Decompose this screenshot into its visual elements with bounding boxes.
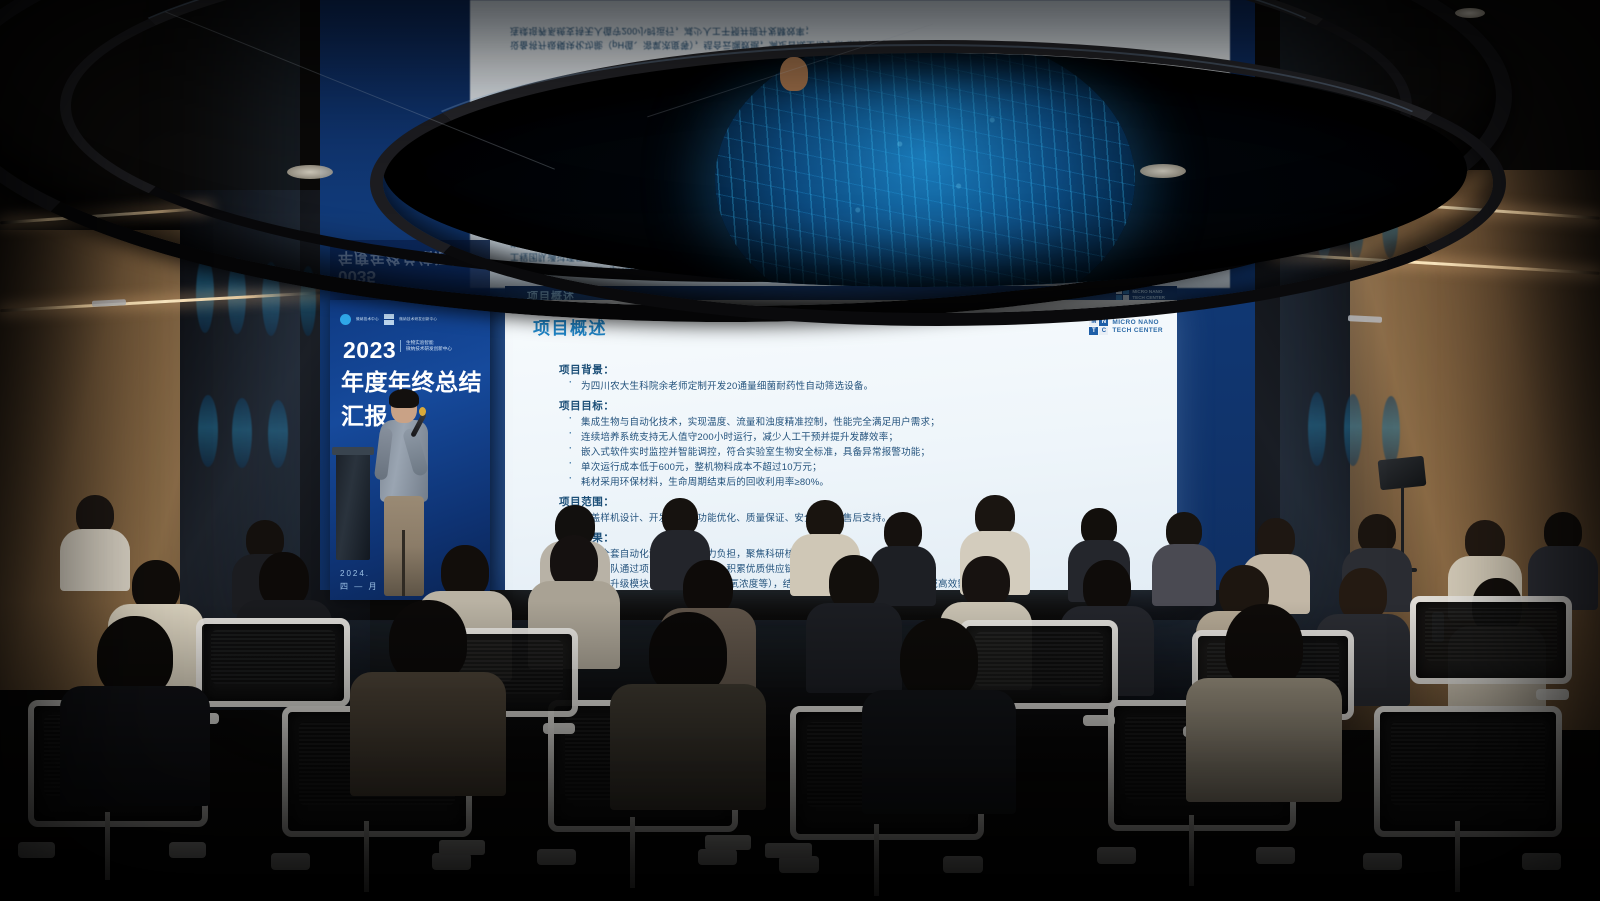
chair-post: [630, 817, 635, 888]
body: [350, 672, 506, 796]
chair-post: [874, 824, 879, 896]
section-heading-background: 项目背景：: [559, 362, 615, 377]
panel-oval-reflection: [268, 400, 288, 468]
chair-tablet-arm: [705, 835, 751, 850]
banner-subtitle-line2: 微纳技术研发创新中心: [406, 346, 452, 352]
panel-oval-reflection: [1382, 396, 1400, 466]
chair-tablet-arm: [765, 843, 812, 858]
head: [962, 556, 1010, 608]
logo-tile-c: C: [1099, 327, 1108, 335]
chair: [196, 618, 338, 738]
ceiling-downlight: [1140, 164, 1186, 178]
banner-year: 2023: [343, 337, 396, 364]
chair-back: [196, 618, 350, 707]
chair-post: [1455, 821, 1460, 892]
chair-tablet-arm: [439, 840, 485, 855]
audience-member: [350, 600, 506, 786]
banner-logo-grid-icon: [384, 314, 395, 325]
panel-oval-reflection: [1344, 394, 1362, 466]
banner-reflection-number: 0035: [338, 266, 376, 286]
bullet-goal-2: 连续培养系统支持无人值守200小时运行，减少人工干预并提升发酵效率；: [581, 429, 898, 443]
chair-arm-left: [1363, 853, 1402, 870]
logo-tiles: M N T C: [1089, 318, 1108, 335]
chair-arm-right: [1256, 847, 1295, 864]
presenter-leg-split: [402, 530, 405, 596]
chair-arm-right: [543, 723, 575, 734]
panel-oval-reflection: [262, 262, 280, 336]
audience-member: [1186, 604, 1342, 794]
logo-text-line2: TECH CENTER: [1112, 327, 1163, 335]
logo-text-line1: MICRO NANO: [1112, 319, 1163, 327]
chair-arm-left: [779, 856, 819, 873]
body: [1186, 678, 1342, 802]
header-logo-line1: MICRO NANO: [1132, 289, 1165, 294]
audience-member: [610, 612, 766, 800]
bullet-goal-1: 集成生物与自动化技术，实现温度、流量和浊度精准控制，性能完全满足用户需求；: [581, 414, 940, 428]
chair-mesh: [1391, 722, 1546, 805]
banner-logo-text: 微纳技术中心: [356, 317, 379, 321]
chair-arm-right: [698, 849, 737, 866]
logo-tile-n: N: [1099, 318, 1108, 326]
chair-arm-right: [943, 856, 983, 873]
banner-date-line1: 2024.: [340, 569, 370, 578]
banner-logo-subtext: 微纳技术研发创新中心: [399, 317, 437, 321]
ceiling-downlight: [780, 57, 808, 91]
ceiling-ring-inner-aperture: [383, 53, 1467, 287]
bullet-goal-4: 单次运行成本低于600元，整机物料成本不超过10万元；: [581, 459, 822, 473]
audience-member: [862, 618, 1016, 804]
chair-mesh: [211, 630, 336, 684]
slide-title: 项目概述: [533, 314, 607, 339]
chair-arm-left: [271, 853, 310, 870]
bullet-background-1: 为四川农大生科院余老师定制开发20通量细菌耐药性自动筛选设备。: [581, 378, 873, 392]
reflection-bullet: 设备将升级模块化功能（pH值、溶氧浓度等），结合云端数据，满足合成生物学领域高效…: [510, 38, 1150, 52]
banner-reflection: 年度年终总结汇报 0035: [330, 240, 490, 300]
body: [60, 686, 210, 806]
chair-arm-left: [537, 849, 576, 866]
chair-post: [364, 821, 369, 892]
chair-arm-right: [169, 842, 206, 858]
chair-arm-right: [1083, 715, 1115, 726]
chair-arm-right: [1536, 689, 1569, 700]
logo-tile-t: T: [1089, 327, 1098, 335]
ceiling-downlight: [287, 165, 333, 179]
banner-logo-dot-icon: [340, 314, 351, 325]
podium: [336, 452, 370, 560]
body: [862, 690, 1016, 814]
panel-oval-reflection: [300, 266, 316, 336]
chair-mesh: [1425, 608, 1557, 661]
micro-nano-logo: M N T C MICRO NANO TECH CENTER: [1089, 318, 1163, 335]
presenter-hair: [389, 389, 419, 408]
chair-arm-right: [1522, 853, 1561, 870]
bullet-goal-5: 耗材采用环保材料，生命周期结束后的回收利用率≥80%。: [581, 474, 829, 488]
panel-oval-reflection: [198, 395, 218, 467]
chair-back: [1374, 706, 1562, 837]
chair-arm-left: [18, 842, 55, 858]
chair-arm-left: [1097, 847, 1136, 864]
chair-post: [105, 812, 110, 880]
chair-arm-right: [432, 853, 471, 870]
chair: [1410, 596, 1560, 714]
reflection-bullet: 连续培养系统支持无人值守200小时运行，减少人工干预并提升发酵效率；: [510, 24, 1150, 38]
ring-inner-shadow: [383, 53, 1467, 287]
chair-back: [1410, 596, 1572, 684]
panel-oval-reflection: [1308, 392, 1326, 466]
bullet-goal-3: 嵌入式软件实时监控并智能调控，符合实验室生物安全标准，具备异常报警功能；: [581, 444, 930, 458]
section-heading-goals: 项目目标：: [559, 398, 615, 413]
banner-year-subtitle: 生物实验智能 微纳技术研发创新中心: [400, 340, 452, 352]
audience-member: [60, 616, 210, 796]
microphone-tip: [419, 407, 426, 416]
chair: [1374, 706, 1550, 892]
panel-oval-reflection: [196, 255, 214, 333]
logo-tile-m: M: [1089, 318, 1098, 326]
podium-top: [332, 447, 374, 455]
body: [610, 684, 766, 810]
panel-oval-reflection: [232, 398, 252, 468]
banner-logo: 微纳技术中心 微纳技术研发创新中心: [340, 314, 437, 325]
auditorium-scene: 设备将升级模块化功能（pH值、DO浓度等），结合云端数据平台； 工程团队通过项目…: [0, 0, 1600, 901]
wall-led-strip: [0, 207, 210, 225]
chair-post: [1189, 815, 1194, 886]
ceiling-downlight: [1455, 8, 1485, 18]
